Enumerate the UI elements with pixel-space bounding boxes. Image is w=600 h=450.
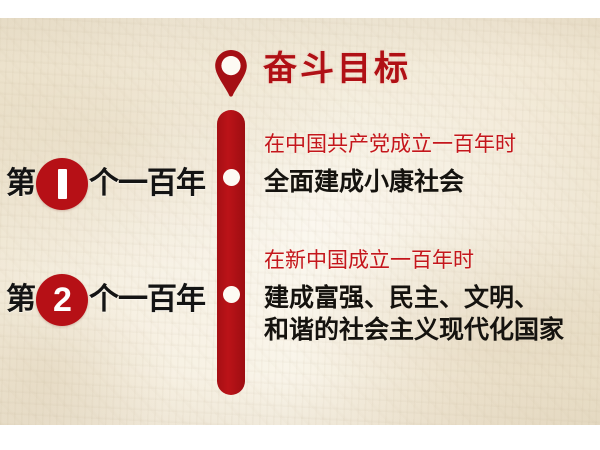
year-label-first-centenary: 第 1 个一百年 — [6, 158, 205, 210]
year-label-prefix: 第 — [6, 285, 35, 315]
goal-body: 建成富强、民主、文明、 和谐的社会主义现代化国家 — [264, 282, 564, 346]
goal-block-first-centenary: 在中国共产党成立一百年时 全面建成小康社会 — [264, 133, 516, 198]
numeral-badge-one-value: 1 — [58, 169, 67, 199]
numeral-badge-one: 1 — [36, 158, 88, 210]
map-pin-icon — [212, 48, 250, 98]
year-label-suffix: 个一百年 — [89, 285, 205, 315]
timeline-bar — [217, 110, 245, 395]
year-label-prefix: 第 — [6, 169, 35, 199]
numeral-badge-two-value: 2 — [53, 283, 71, 317]
goal-body-line: 全面建成小康社会 — [264, 166, 516, 198]
goal-headline: 在中国共产党成立一百年时 — [264, 133, 516, 157]
year-label-suffix: 个一百年 — [89, 169, 205, 199]
timeline-dot-second — [223, 286, 240, 303]
timeline-dot-first — [223, 169, 240, 186]
year-label-second-centenary: 第 2 个一百年 — [6, 274, 205, 326]
numeral-badge-two: 2 — [36, 274, 88, 326]
goal-block-second-centenary: 在新中国成立一百年时 建成富强、民主、文明、 和谐的社会主义现代化国家 — [264, 249, 564, 346]
page-title: 奋斗目标 — [263, 52, 411, 86]
goal-headline: 在新中国成立一百年时 — [264, 249, 564, 273]
goal-body: 全面建成小康社会 — [264, 166, 516, 198]
goal-body-line: 建成富强、民主、文明、 — [264, 282, 564, 314]
infographic-canvas: 第 1 个一百年 第 2 个一百年 奋斗目标 在中国共产党成立一百年时 全面建成… — [0, 0, 600, 450]
goal-body-line: 和谐的社会主义现代化国家 — [264, 314, 564, 346]
